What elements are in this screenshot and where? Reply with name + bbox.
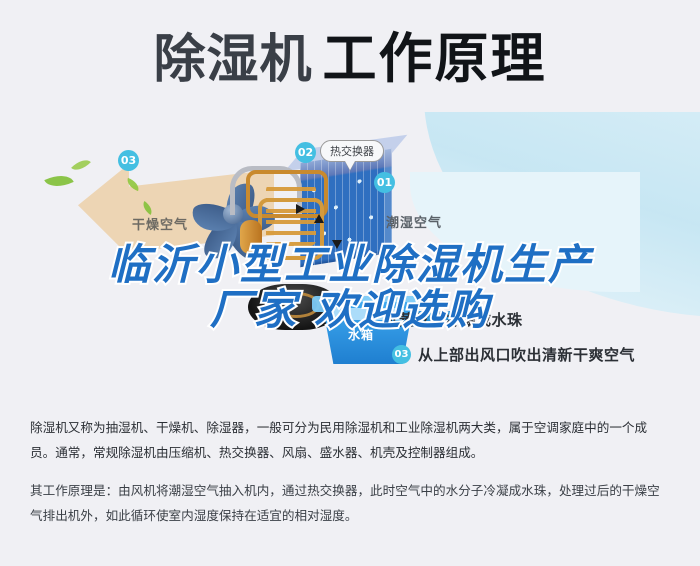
badge-01: 01: [374, 172, 395, 193]
step-3-description: 从上部出风口吹出清新干爽空气: [418, 344, 635, 365]
page-title: 除湿机 工作原理: [153, 32, 546, 86]
badge-02: 02: [295, 142, 316, 163]
paragraph-principle: 其工作原理是：由风机将潮湿空气抽入机内，通过热交换器，此时空气中的水分子冷凝成水…: [30, 479, 670, 528]
flow-arrow-left-icon: [296, 204, 305, 214]
water-tank-label: 水箱: [348, 326, 374, 343]
flow-arrow-up-icon: [332, 240, 342, 249]
leaf-icon: [71, 155, 91, 175]
humid-air-label: 潮湿空气: [386, 212, 442, 231]
humid-air-band-inner: [410, 172, 640, 292]
badge-03: 03: [118, 150, 139, 171]
flow-arrow-down-icon: [314, 214, 324, 223]
dry-air-label: 干燥空气: [132, 214, 188, 233]
compressor-pipework: [236, 164, 346, 282]
title-part-1: 除湿机: [153, 34, 312, 86]
leaf-icon: [44, 169, 73, 193]
step-2-description: 过蒸发器冷凝成水珠: [383, 309, 523, 330]
paragraph-definition: 除湿机又称为抽湿机、干燥机、除湿器，一般可分为民用除湿机和工业除湿机两大类，属于…: [30, 416, 670, 465]
page-header: 除湿机 工作原理: [0, 0, 700, 118]
article-body: 除湿机又称为抽湿机、干燥机、除湿器，一般可分为民用除湿机和工业除湿机两大类，属于…: [30, 416, 670, 542]
dehumidifier-diagram: 干燥空气 水箱 01 02 03 热交换器 潮湿空气 过蒸发器冷凝成水珠 03 …: [0, 112, 700, 402]
badge-03-step: 03: [392, 345, 411, 364]
heat-exchanger-callout: 热交换器: [320, 140, 384, 162]
title-part-2: 工作原理: [323, 32, 547, 86]
